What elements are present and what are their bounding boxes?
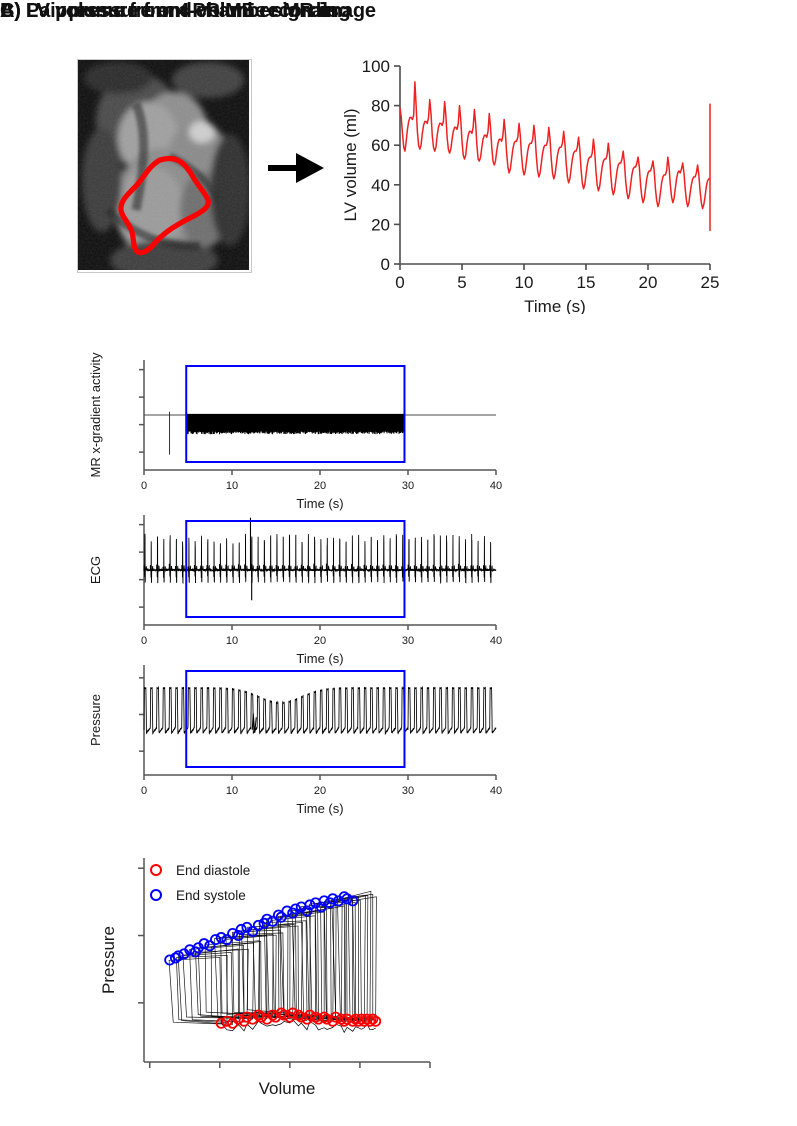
ecg-chart: 010203040Time (s)ECG [84,507,504,669]
svg-text:40: 40 [490,480,502,492]
svg-text:40: 40 [371,176,390,195]
pressure-chart: 010203040Time (s)Pressure [84,657,504,819]
svg-text:10: 10 [226,785,238,797]
gradient-trace [186,414,404,434]
svg-text:40: 40 [490,635,502,647]
mr-image-svg [78,60,249,270]
svg-text:0: 0 [395,273,404,292]
svg-text:Pressure: Pressure [88,694,103,746]
svg-text:20: 20 [314,785,326,797]
svg-text:80: 80 [371,97,390,116]
svg-text:Pressure: Pressure [100,926,118,994]
svg-text:Time (s): Time (s) [524,297,586,314]
svg-text:End systole: End systole [176,888,246,903]
svg-text:Volume: Volume [259,1079,316,1098]
svg-text:0: 0 [381,255,390,274]
pressure-trace [144,687,496,734]
pressure-volume-loop-chart: VolumePressureEnd diastoleEnd systole [100,852,440,1114]
svg-text:20: 20 [314,480,326,492]
svg-text:30: 30 [402,785,414,797]
flow-arrow-icon [266,146,328,190]
svg-text:End diastole: End diastole [176,863,250,878]
svg-text:MR x-gradient activity: MR x-gradient activity [88,352,103,477]
ecg-trace [144,534,496,583]
svg-text:100: 100 [362,57,390,76]
svg-text:0: 0 [141,480,147,492]
svg-text:LV volume (ml): LV volume (ml) [341,108,360,221]
legend-marker-1 [151,890,161,900]
mr-gradient-chart: 010203040Time (s)MR x-gradient activity [84,352,504,514]
svg-text:20: 20 [371,215,390,234]
svg-text:0: 0 [141,635,147,647]
svg-text:Time (s): Time (s) [296,801,343,816]
svg-text:20: 20 [314,635,326,647]
svg-text:15: 15 [577,273,596,292]
svg-text:ECG: ECG [88,556,103,584]
svg-text:0: 0 [141,785,147,797]
svg-text:30: 30 [402,480,414,492]
svg-text:30: 30 [402,635,414,647]
svg-text:5: 5 [457,273,466,292]
svg-text:40: 40 [490,785,502,797]
panel-c-title: C) Pair pressure and volume signals [0,0,339,23]
svg-text:60: 60 [371,136,390,155]
svg-text:10: 10 [515,273,534,292]
mr-4chamber-image [77,59,252,273]
svg-text:10: 10 [226,635,238,647]
svg-text:25: 25 [701,273,720,292]
svg-text:10: 10 [226,480,238,492]
svg-text:20: 20 [639,273,658,292]
lv-volume-chart: 0204060801000510152025Time (s)LV volume … [338,52,720,314]
legend-marker-0 [151,865,161,875]
lv-volume-trace [400,82,710,231]
